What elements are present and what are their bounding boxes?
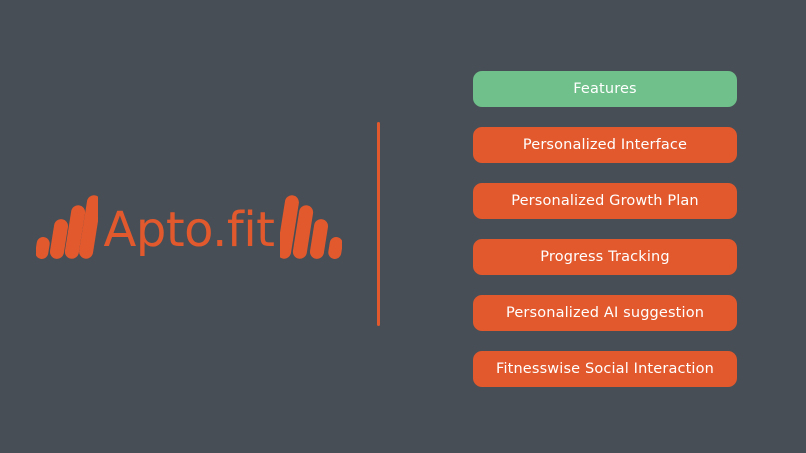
- brand-lockup: Apto.fit: [36, 195, 343, 266]
- brand-wordmark: Apto.fit: [104, 206, 275, 254]
- vertical-divider: [377, 122, 380, 326]
- brand-lockup-region: Apto.fit: [0, 0, 378, 453]
- features-panel-header: Features: [473, 71, 737, 107]
- apto-bars-ascending-icon: [36, 195, 98, 266]
- feature-item-personalized-growth-plan[interactable]: Personalized Growth Plan: [473, 183, 737, 219]
- apto-bars-descending-icon: [280, 195, 342, 266]
- feature-item-progress-tracking[interactable]: Progress Tracking: [473, 239, 737, 275]
- presentation-slide: Apto.fit Features Personalized Interface…: [0, 0, 806, 453]
- feature-item-fitnesswise-social-interaction[interactable]: Fitnesswise Social Interaction: [473, 351, 737, 387]
- feature-item-personalized-ai-suggestion[interactable]: Personalized AI suggestion: [473, 295, 737, 331]
- features-panel: Features Personalized Interface Personal…: [473, 71, 737, 387]
- feature-item-personalized-interface[interactable]: Personalized Interface: [473, 127, 737, 163]
